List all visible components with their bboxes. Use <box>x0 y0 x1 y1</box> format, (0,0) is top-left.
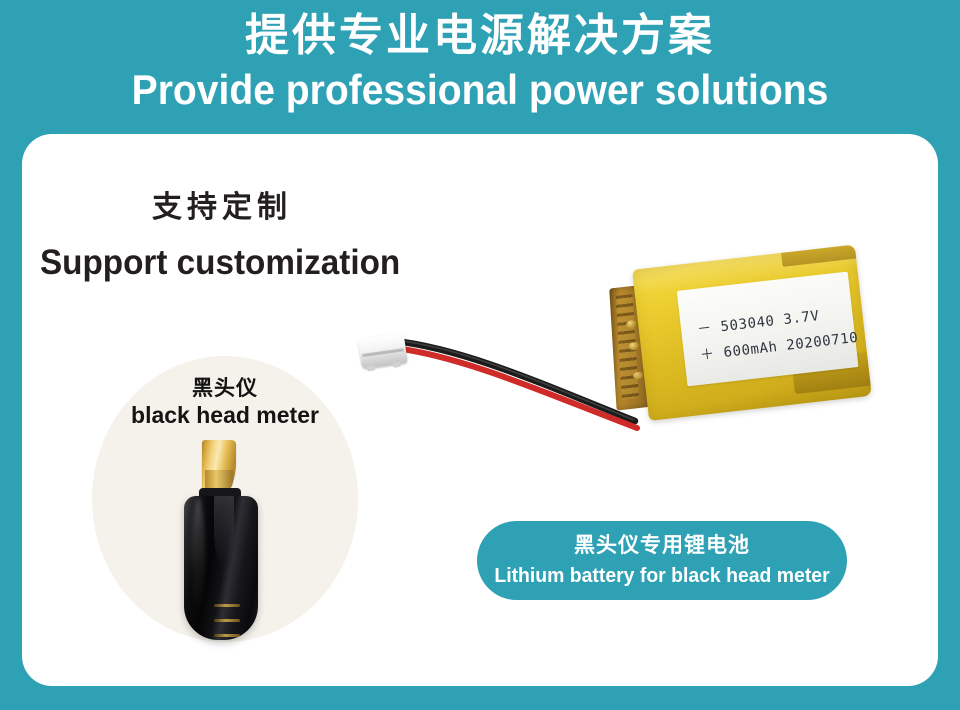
customization-title-chinese: 支持定制 <box>152 182 292 226</box>
product-badge: 黑头仪专用锂电池 Lithium battery for black head … <box>477 521 847 600</box>
device-indicator-line-2 <box>214 619 240 622</box>
device-gold-tip-icon <box>202 440 236 494</box>
header-title-chinese: 提供专业电源解决方案 <box>0 8 960 64</box>
device-indicator-line-1 <box>214 604 240 607</box>
connector-foot-left <box>367 365 376 371</box>
badge-text-english: Lithium battery for black head meter <box>483 563 842 589</box>
battery-pouch-cell: － 503040 3.7V ＋ 600mAh 20200710 <box>632 245 872 421</box>
connector-ridge <box>362 348 404 357</box>
device-indicator-line-3 <box>214 634 240 637</box>
device-body <box>184 496 258 640</box>
lipo-battery: － 503040 3.7V ＋ 600mAh 20200710 <box>608 242 874 425</box>
black-head-meter-device <box>166 440 276 640</box>
connector-foot-right <box>393 362 402 368</box>
device-label-chinese: 黑头仪 <box>92 372 358 402</box>
header-title-english: Provide professional power solutions <box>34 66 927 114</box>
product-banner: 提供专业电源解决方案 Provide professional power so… <box>0 0 960 710</box>
banner-header: 提供专业电源解决方案 Provide professional power so… <box>0 0 960 128</box>
jst-connector <box>358 331 411 373</box>
wire-red <box>395 348 637 428</box>
device-label-english: black head meter <box>92 402 358 429</box>
battery-label: － 503040 3.7V ＋ 600mAh 20200710 <box>677 272 859 387</box>
customization-title-english: Support customization <box>40 243 400 283</box>
badge-text-chinese: 黑头仪专用锂电池 <box>477 530 847 560</box>
